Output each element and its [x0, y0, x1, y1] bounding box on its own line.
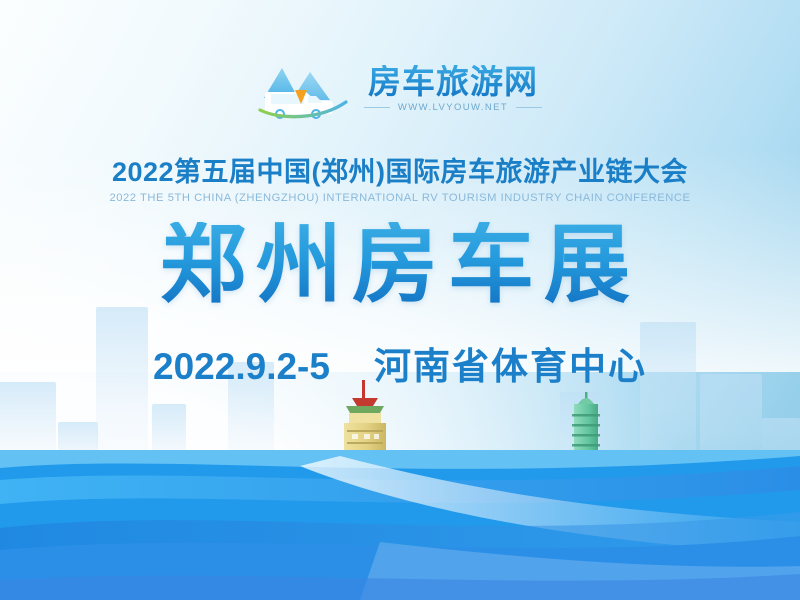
site-logo[interactable]: 房车旅游网 WWW.LVYOUW.NET	[0, 58, 800, 120]
rv-mountain-logo-icon	[258, 58, 350, 120]
logo-url-row: WWW.LVYOUW.NET	[364, 102, 542, 113]
logo-brand-name: 房车旅游网	[368, 65, 538, 99]
logo-text-block: 房车旅游网 WWW.LVYOUW.NET	[364, 65, 542, 114]
conference-title-cn: 2022第五届中国(郑州)国际房车旅游产业链大会	[0, 150, 800, 189]
logo-dash-left	[364, 107, 390, 108]
water-foreground	[0, 450, 800, 600]
logo-dash-right	[516, 107, 542, 108]
logo-website-url: WWW.LVYOUW.NET	[398, 102, 508, 113]
poster-canvas: 房车旅游网 WWW.LVYOUW.NET 2022第五届中国(郑州)国际房车旅游…	[0, 0, 800, 600]
conference-title-en: 2022 THE 5TH CHINA (ZHENGZHOU) INTERNATI…	[0, 192, 800, 204]
page-title: 郑州房车展	[0, 222, 800, 308]
